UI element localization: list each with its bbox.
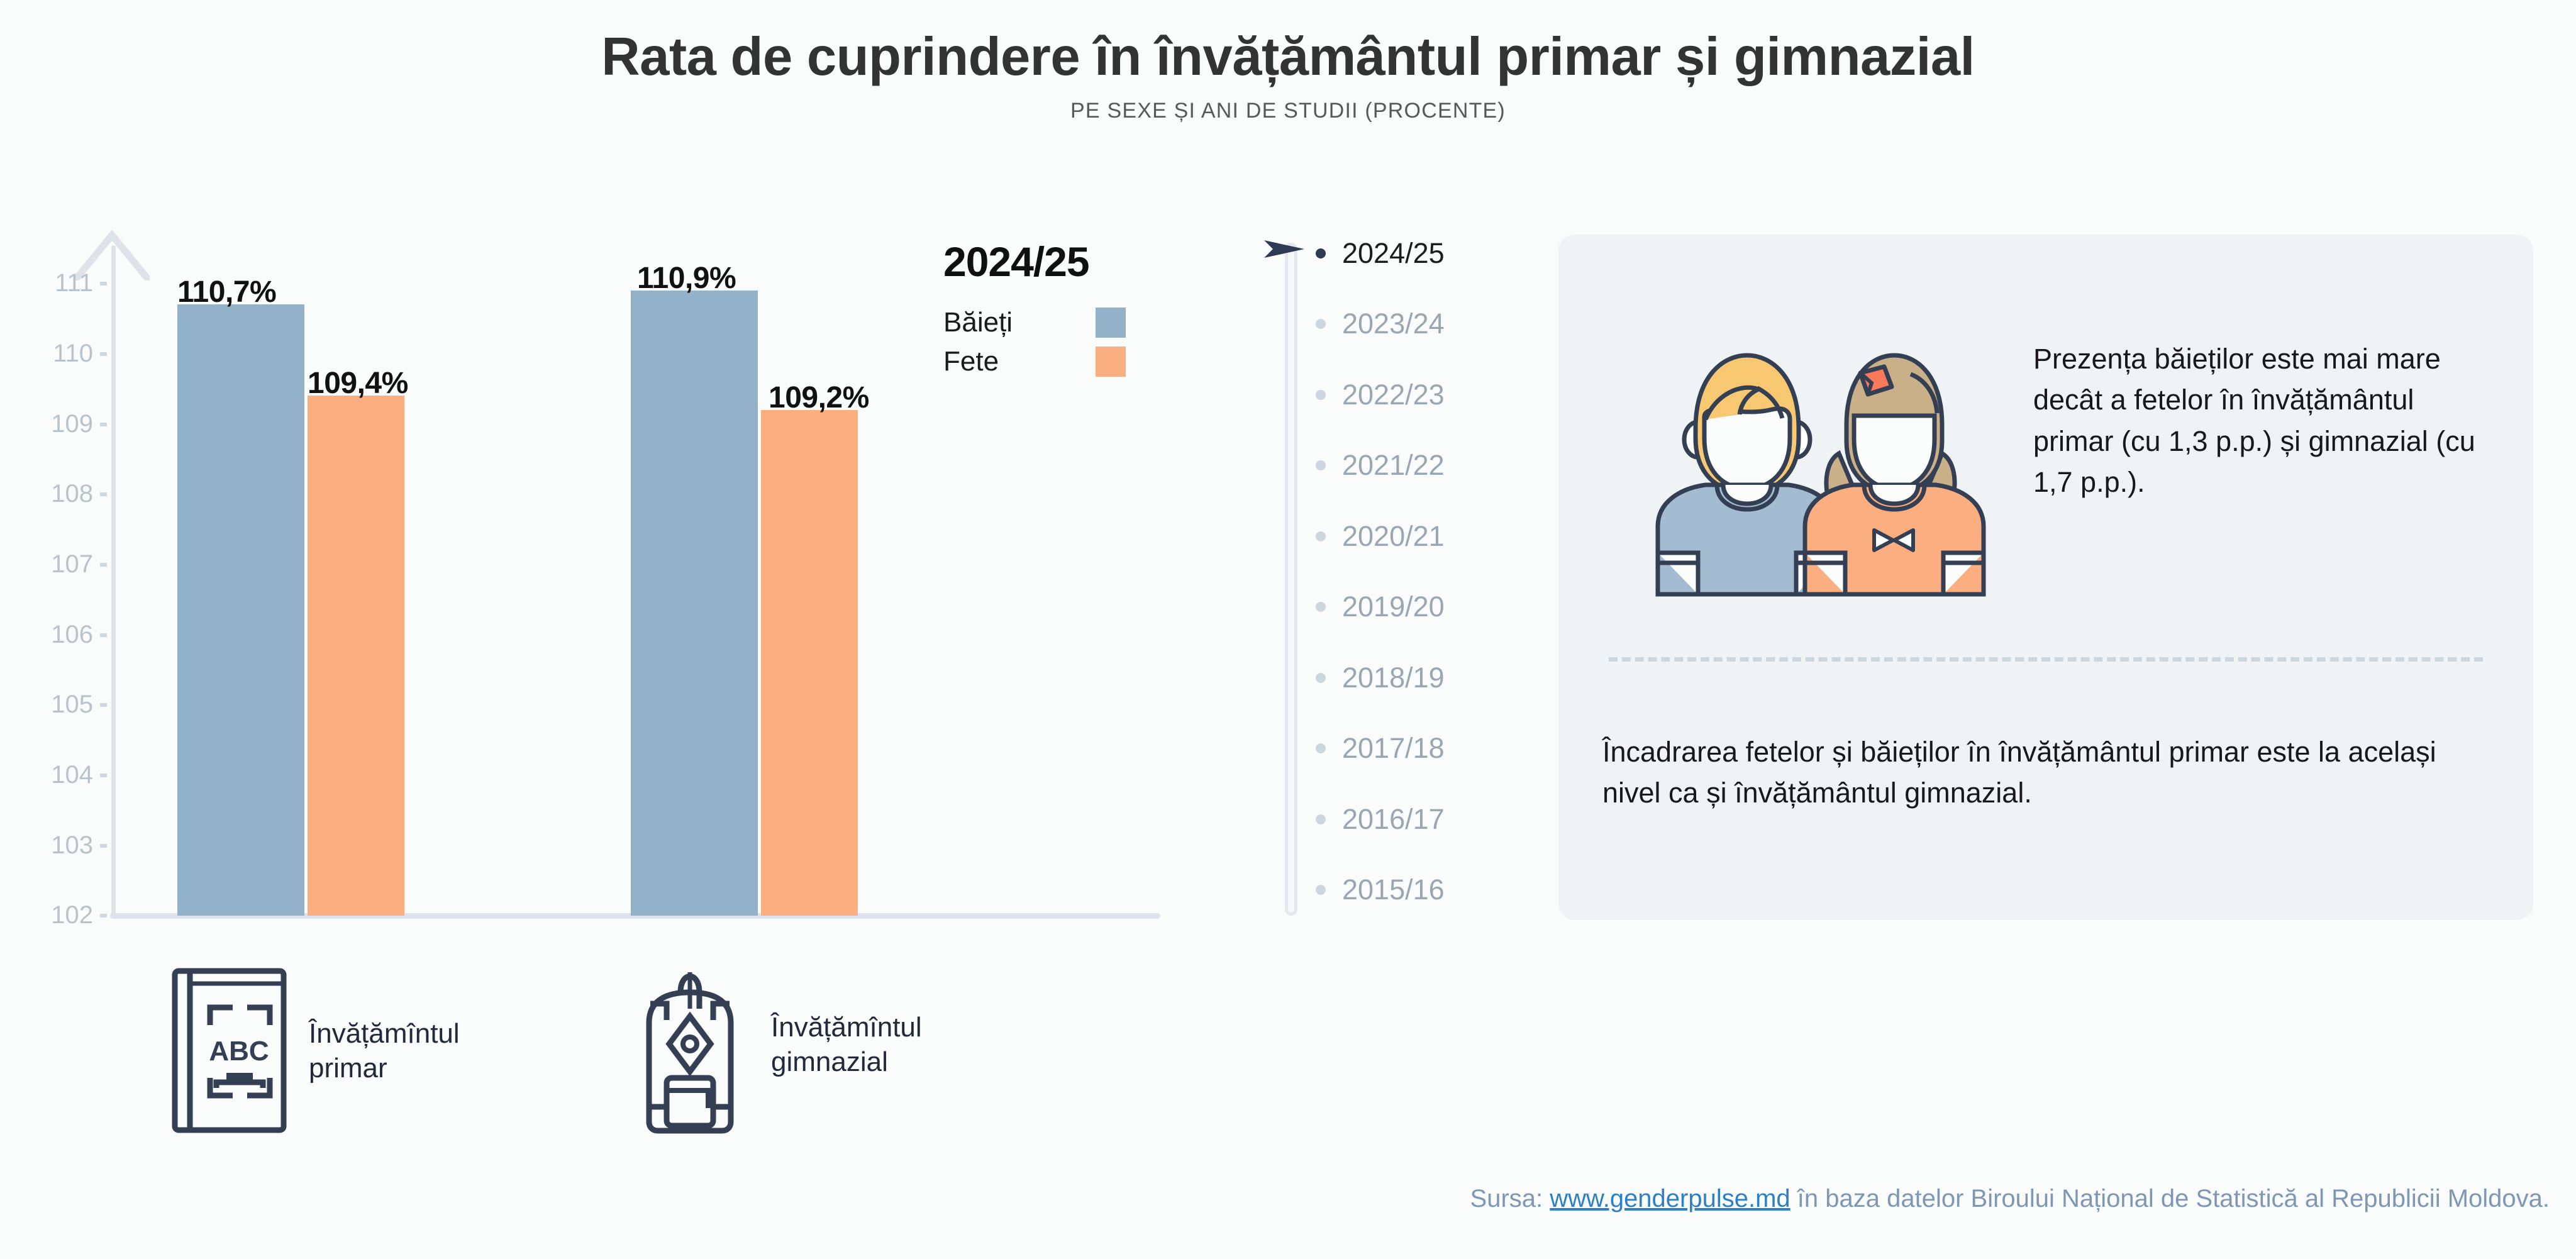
timeline-item-2018-19[interactable]: 2018/19	[1316, 661, 1445, 695]
book-abc-icon: ABC	[171, 967, 287, 1134]
y-tick-103: 103	[24, 831, 93, 860]
tick-mark	[100, 633, 107, 637]
timeline-label: 2020/21	[1342, 520, 1445, 553]
legend-swatch-boys	[1096, 308, 1126, 338]
timeline-item-2022-23[interactable]: 2022/23	[1316, 378, 1445, 412]
timeline-label: 2021/22	[1342, 449, 1445, 482]
bar-label-primar-boys: 110,7%	[177, 275, 276, 309]
category-label-primar: Învățămîntul primar	[309, 1016, 460, 1085]
source-footer: Sursa: www.genderpulse.md în baza datelo…	[0, 1185, 2576, 1213]
legend-label-girls: Fete	[943, 346, 1096, 377]
info-primary-text: Prezența băieților este mai mare decât a…	[2033, 338, 2499, 502]
y-tick-105: 105	[24, 690, 93, 719]
bar-primar-boys[interactable]	[177, 304, 304, 916]
timeline-dot	[1316, 885, 1326, 895]
chart-legend: 2024/25 Băieți Fete	[943, 238, 1170, 381]
y-tick-104: 104	[24, 760, 93, 789]
timeline-label: 2019/20	[1342, 591, 1445, 623]
timeline-label: 2017/18	[1342, 732, 1445, 765]
timeline-dot	[1316, 602, 1326, 612]
timeline-dot	[1316, 743, 1326, 753]
timeline-item-2016-17[interactable]: 2016/17	[1316, 802, 1445, 836]
y-tick-110: 110	[24, 339, 93, 368]
timeline-pointer-icon	[1263, 236, 1308, 262]
bar-gimnazial-boys[interactable]	[631, 291, 758, 916]
tick-mark	[100, 352, 107, 356]
timeline-label: 2016/17	[1342, 803, 1445, 836]
timeline-item-2017-18[interactable]: 2017/18	[1316, 731, 1445, 765]
bar-primar-girls[interactable]	[308, 396, 404, 916]
info-panel: Prezența băieților este mai mare decât a…	[1558, 235, 2533, 920]
timeline-item-2015-16[interactable]: 2015/16	[1316, 873, 1445, 907]
bar-label-gimnazial-boys: 110,9%	[637, 261, 736, 296]
tick-mark	[100, 282, 107, 286]
timeline-dot	[1316, 673, 1326, 683]
timeline-item-2023-24[interactable]: 2023/24	[1316, 307, 1445, 341]
svg-text:ABC: ABC	[209, 1036, 269, 1067]
bar-gimnazial-girls[interactable]	[761, 410, 858, 916]
timeline-label: 2018/19	[1342, 662, 1445, 694]
y-tick-107: 107	[24, 550, 93, 579]
y-tick-109: 109	[24, 409, 93, 438]
bar-label-gimnazial-girls: 109,2%	[769, 380, 869, 415]
category-gimnazial[interactable]: Învățămîntul gimnazial	[630, 955, 922, 1134]
timeline-dot	[1316, 319, 1326, 329]
timeline-label: 2015/16	[1342, 874, 1445, 906]
info-divider	[1609, 657, 2483, 662]
timeline-dot	[1316, 814, 1326, 824]
timeline-dot	[1316, 460, 1326, 470]
timeline-item-2020-21[interactable]: 2020/21	[1316, 519, 1445, 553]
source-suffix: în baza datelor Biroului Național de Sta…	[1790, 1185, 2550, 1212]
y-axis-line	[111, 245, 116, 917]
year-timeline: 2024/25 2023/24 2022/23 2021/22 2020/21 …	[1277, 236, 1522, 922]
legend-label-boys: Băieți	[943, 307, 1096, 338]
tick-mark	[100, 914, 107, 918]
legend-swatch-girls	[1096, 347, 1126, 377]
source-prefix: Sursa:	[1470, 1185, 1550, 1212]
timeline-label: 2024/25	[1342, 237, 1445, 270]
info-secondary-text: Încadrarea fetelor și băieților în învăț…	[1602, 731, 2502, 814]
y-tick-111: 111	[24, 269, 93, 297]
tick-mark	[100, 703, 107, 707]
y-tick-108: 108	[24, 479, 93, 508]
tick-mark	[100, 774, 107, 777]
timeline-dot	[1316, 248, 1326, 258]
bar-label-primar-girls: 109,4%	[308, 366, 408, 401]
category-primar[interactable]: ABC Învățămîntul primar	[171, 967, 460, 1134]
tick-mark	[100, 563, 107, 567]
timeline-dot	[1316, 531, 1326, 541]
timeline-dot	[1316, 390, 1326, 400]
timeline-label: 2022/23	[1342, 379, 1445, 411]
tick-mark	[100, 492, 107, 496]
legend-item-boys[interactable]: Băieți	[943, 303, 1126, 342]
y-tick-102: 102	[24, 901, 93, 929]
timeline-item-2024-25[interactable]: 2024/25	[1316, 236, 1445, 270]
legend-selected-year: 2024/25	[943, 238, 1170, 286]
backpack-icon	[630, 955, 750, 1134]
tick-mark	[100, 844, 107, 848]
timeline-item-2021-22[interactable]: 2021/22	[1316, 448, 1445, 482]
timeline-label: 2023/24	[1342, 308, 1445, 340]
tick-mark	[100, 423, 107, 426]
bar-chart: 111 110 109 108 107 106 105 104 103 102 …	[0, 0, 1195, 1259]
legend-item-girls[interactable]: Fete	[943, 342, 1126, 381]
category-label-gimnazial: Învățămîntul gimnazial	[771, 1010, 922, 1079]
y-tick-106: 106	[24, 620, 93, 649]
boy-and-girl-illustration-icon	[1646, 334, 1999, 598]
source-link[interactable]: www.genderpulse.md	[1550, 1185, 1790, 1212]
timeline-item-2019-20[interactable]: 2019/20	[1316, 590, 1445, 624]
timeline-rail[interactable]	[1285, 243, 1297, 916]
